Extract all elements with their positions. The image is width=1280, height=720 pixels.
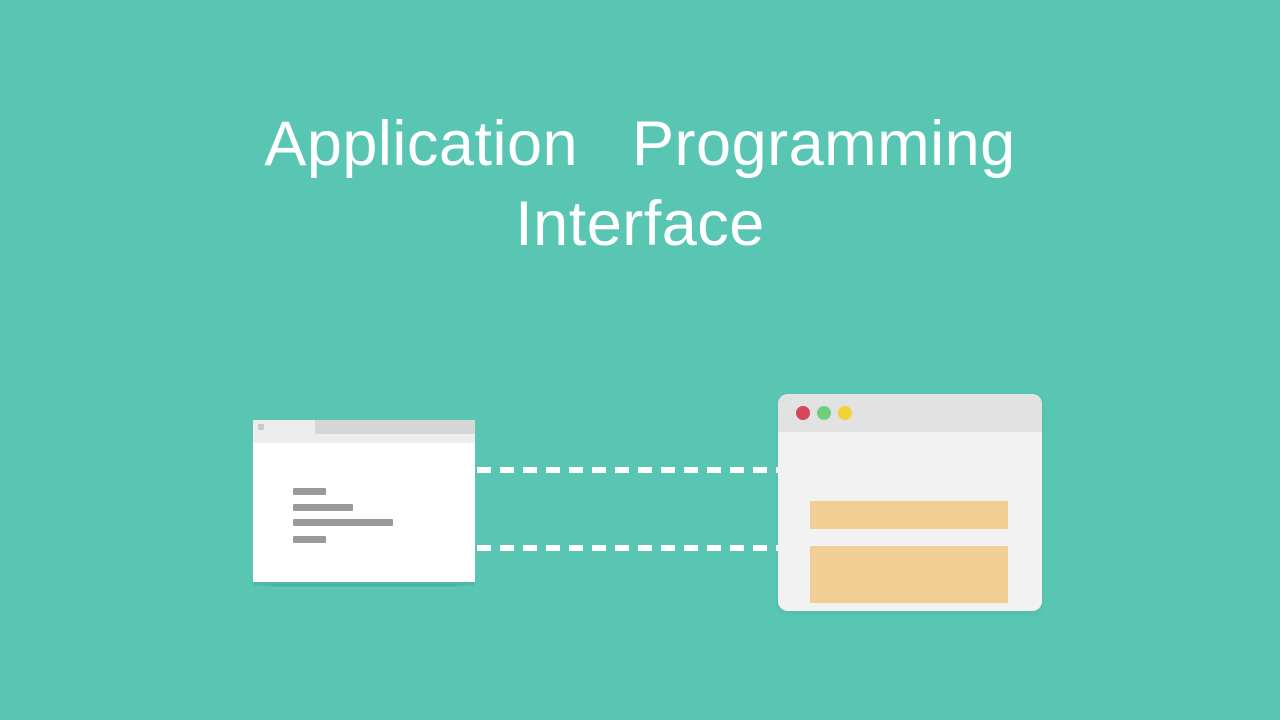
client-application-window xyxy=(253,420,475,582)
maximize-dot-icon[interactable] xyxy=(838,406,852,420)
page-title-line-2: Interface xyxy=(0,184,1280,264)
close-dot-icon[interactable] xyxy=(796,406,810,420)
client-window-shadow-inner xyxy=(271,584,457,587)
api-request-line xyxy=(477,467,779,473)
illustration-canvas: Application Programming Interface xyxy=(0,0,1280,720)
favicon-icon xyxy=(258,424,264,430)
code-line-2 xyxy=(293,504,353,511)
code-line-4 xyxy=(293,536,326,543)
api-server-browser-window xyxy=(778,394,1042,611)
response-block-2 xyxy=(810,546,1008,603)
api-response-line xyxy=(477,545,779,551)
page-title: Application Programming Interface xyxy=(0,104,1280,264)
browser-content xyxy=(778,432,1042,611)
client-window-tab[interactable] xyxy=(253,420,315,434)
minimize-dot-icon[interactable] xyxy=(817,406,831,420)
page-title-line-1: Application Programming xyxy=(0,104,1280,184)
client-window-content xyxy=(253,443,475,582)
client-window-toolbar xyxy=(253,434,475,443)
client-window-titlebar xyxy=(253,420,475,434)
code-line-1 xyxy=(293,488,326,495)
browser-titlebar xyxy=(778,394,1042,432)
code-line-3 xyxy=(293,519,393,526)
response-block-1 xyxy=(810,501,1008,529)
